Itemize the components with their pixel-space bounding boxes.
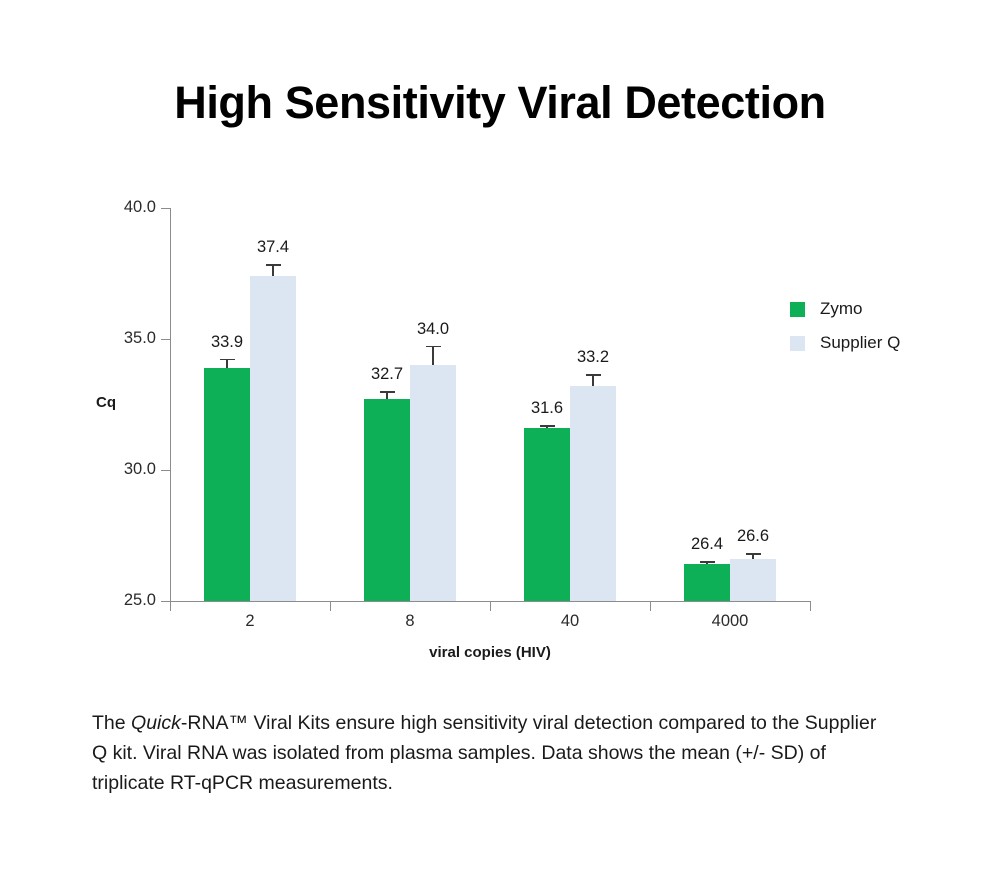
y-axis-tick-label: 30.0 xyxy=(118,460,156,479)
y-axis-title: Cq xyxy=(96,394,116,411)
legend-label: Supplier Q xyxy=(820,333,900,353)
bar-value-label: 33.2 xyxy=(560,348,626,367)
x-axis-tick-label: 40 xyxy=(490,612,650,631)
y-axis-tick xyxy=(161,339,170,340)
chart-legend: Zymo Supplier Q xyxy=(790,292,900,360)
error-bar-cap xyxy=(426,346,441,348)
y-axis-tick xyxy=(161,470,170,471)
bar-value-label: 37.4 xyxy=(240,238,306,257)
bar-value-label: 34.0 xyxy=(400,320,466,339)
x-axis-tick-label: 4000 xyxy=(650,612,810,631)
error-bar-cap xyxy=(220,359,235,361)
bar-zymo xyxy=(524,428,570,601)
x-axis-tick xyxy=(170,601,171,611)
bar-supplier-q xyxy=(730,559,776,601)
legend-item-zymo: Zymo xyxy=(790,292,900,326)
error-bar-cap xyxy=(266,264,281,266)
plot-area: 33.937.432.734.031.633.226.426.6 xyxy=(170,208,810,601)
y-axis-tick-label: 40.0 xyxy=(118,198,156,217)
y-axis-tick-label: 35.0 xyxy=(118,329,156,348)
x-axis-tick-label: 8 xyxy=(330,612,490,631)
error-bar-cap xyxy=(540,425,555,427)
caption-part-2: -RNA™ Viral Kits ensure high sensitivity… xyxy=(92,712,876,794)
x-axis-tick-label: 2 xyxy=(170,612,330,631)
legend-swatch-icon xyxy=(790,302,805,317)
bar-zymo xyxy=(204,368,250,601)
y-axis-tick-label: 25.0 xyxy=(118,591,156,610)
error-bar-stem xyxy=(432,346,434,366)
bar-supplier-q xyxy=(250,276,296,601)
legend-item-supplier-q: Supplier Q xyxy=(790,326,900,360)
bar-zymo xyxy=(364,399,410,601)
bar-supplier-q xyxy=(410,365,456,601)
x-axis-tick xyxy=(650,601,651,611)
x-axis-title: viral copies (HIV) xyxy=(170,644,810,661)
caption-part-1: The xyxy=(92,712,131,734)
legend-swatch-icon xyxy=(790,336,805,351)
y-axis-tick xyxy=(161,601,170,602)
error-bar-cap xyxy=(700,561,715,563)
error-bar-cap xyxy=(746,553,761,555)
figure-caption: The Quick-RNA™ Viral Kits ensure high se… xyxy=(92,708,892,798)
bar-zymo xyxy=(684,564,730,601)
legend-label: Zymo xyxy=(820,299,863,319)
bar-value-label: 26.6 xyxy=(720,527,786,546)
bar-supplier-q xyxy=(570,386,616,601)
y-axis-tick xyxy=(161,208,170,209)
x-axis-tick xyxy=(810,601,811,611)
figure-page: High Sensitivity Viral Detection 25.030.… xyxy=(0,0,1000,875)
error-bar-cap xyxy=(586,374,601,376)
bar-chart: 25.030.035.040.0 28404000 Cq viral copie… xyxy=(0,0,1000,700)
x-axis-tick xyxy=(330,601,331,611)
caption-italic-term: Quick xyxy=(131,712,181,734)
error-bar-cap xyxy=(380,391,395,393)
x-axis-tick xyxy=(490,601,491,611)
